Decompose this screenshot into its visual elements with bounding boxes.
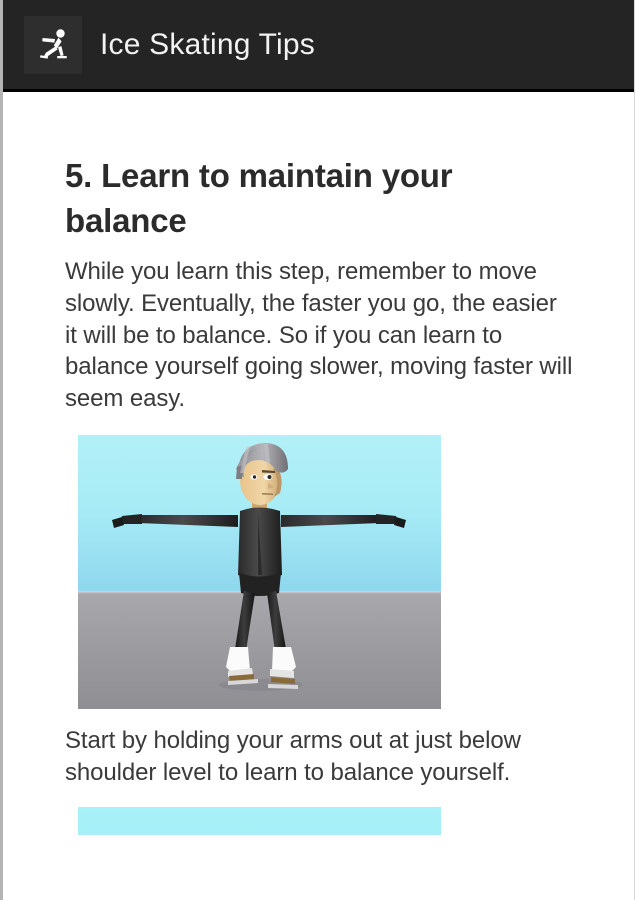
app-root: Ice Skating Tips 5. Learn to maintain yo… (0, 0, 635, 900)
skater-figure (78, 435, 441, 709)
skater-arms-out-photo (78, 435, 441, 709)
page-title: Ice Skating Tips (100, 28, 315, 62)
tip-paragraph-1: While you learn this step, remember to m… (65, 256, 574, 416)
skater-arms-out-figure (78, 435, 441, 709)
article-scroll-container[interactable]: 5. Learn to maintain your balance While … (3, 92, 634, 900)
ice-skater-icon (33, 25, 73, 65)
viewport-bottom-clip (3, 835, 634, 900)
tip-paragraph-2: Start by holding your arms out at just b… (65, 725, 574, 789)
action-bar: Ice Skating Tips (0, 0, 635, 92)
tip-heading: 5. Learn to maintain your balance (65, 154, 574, 244)
app-home-button[interactable] (24, 16, 82, 74)
